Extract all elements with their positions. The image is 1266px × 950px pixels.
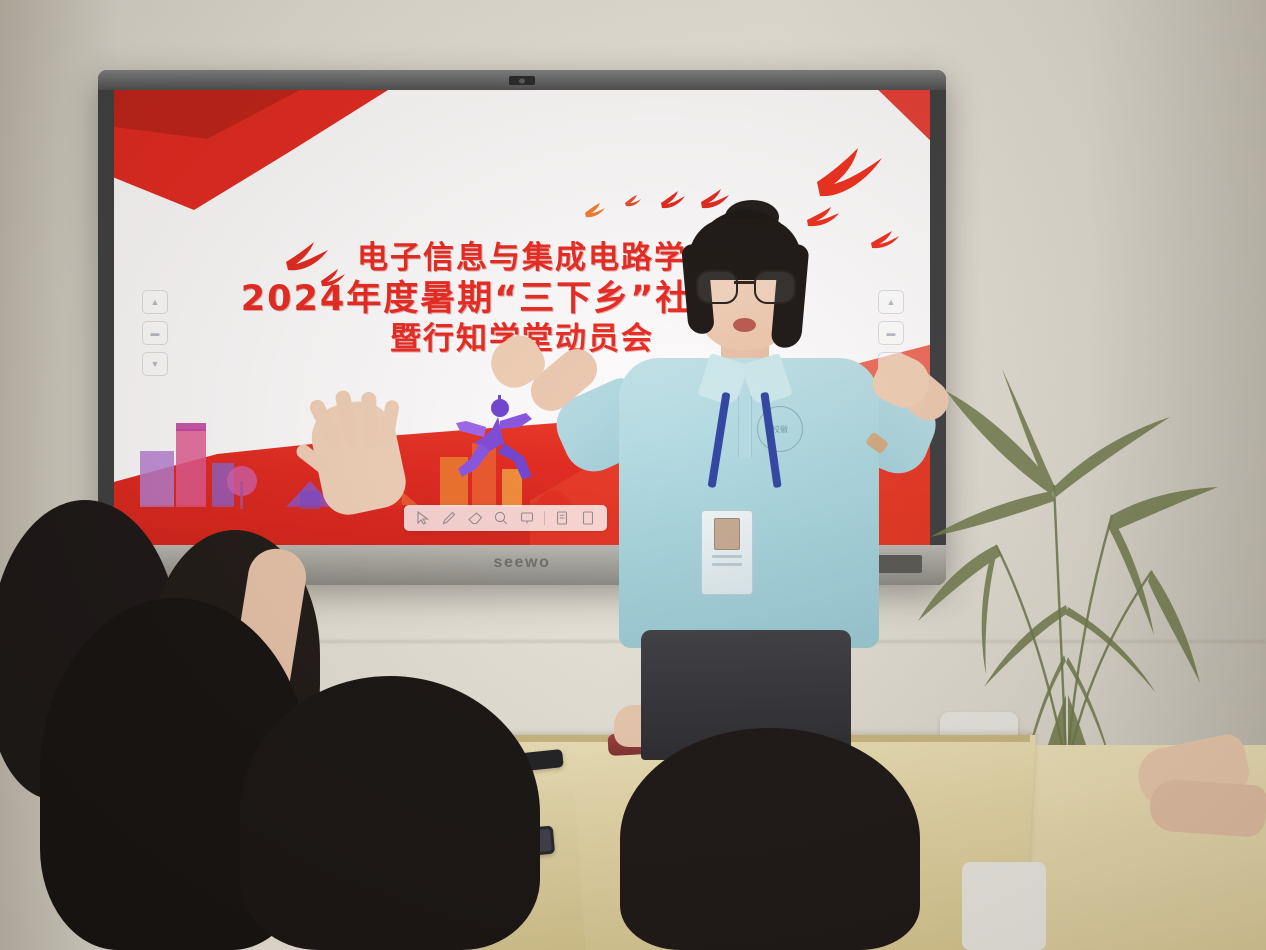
bird-icon — [660, 190, 686, 210]
menu-icon: ▬ — [151, 329, 160, 338]
presenter: 校徽 — [575, 210, 975, 755]
menu-button[interactable]: ▬ — [142, 321, 168, 345]
hand-finger — [361, 392, 378, 448]
presenter-mouth — [733, 318, 756, 332]
badge-photo — [714, 518, 740, 550]
audience-member-head — [240, 676, 540, 950]
shape-tool-icon[interactable] — [515, 507, 539, 529]
classroom-scene: 电子信息与集成电路学 2024年度暑期“三下乡”社会实践 暨行知学堂动员会 — [0, 0, 1266, 950]
camera-icon — [509, 76, 535, 85]
audience-member-head — [620, 728, 920, 950]
toolbar-separator — [544, 511, 545, 525]
display-brand-label: seewo — [494, 554, 551, 572]
display-top-bezel — [98, 70, 946, 90]
page-up-button[interactable]: ▲ — [142, 290, 168, 314]
page-up-icon: ▲ — [151, 298, 160, 307]
side-control-left[interactable]: ▲ ▬ ▼ — [142, 290, 168, 376]
page-down-button[interactable]: ▼ — [142, 352, 168, 376]
slide-decor-top-right — [820, 90, 930, 150]
pen-tool-icon[interactable] — [437, 507, 461, 529]
magnifier-tool-icon[interactable] — [489, 507, 513, 529]
glasses-lens-left — [696, 270, 738, 304]
page-down-icon: ▼ — [151, 360, 160, 369]
seated-person-hand — [1148, 778, 1266, 838]
cursor-tool-icon[interactable] — [411, 507, 435, 529]
page-tool-icon[interactable] — [550, 507, 574, 529]
eraser-tool-icon[interactable] — [463, 507, 487, 529]
chair-front[interactable] — [962, 862, 1046, 950]
runner-graphic — [454, 395, 540, 487]
bird-icon — [814, 146, 884, 202]
id-badge — [701, 510, 753, 595]
badge-text-line — [712, 555, 742, 558]
presenter-shirt-placket — [738, 396, 752, 458]
bird-icon — [624, 194, 642, 208]
glasses-lens-right — [754, 270, 796, 304]
glasses-icon — [695, 270, 795, 300]
badge-text-line — [712, 563, 742, 566]
bird-icon — [700, 188, 730, 210]
glasses-bridge — [734, 281, 754, 284]
